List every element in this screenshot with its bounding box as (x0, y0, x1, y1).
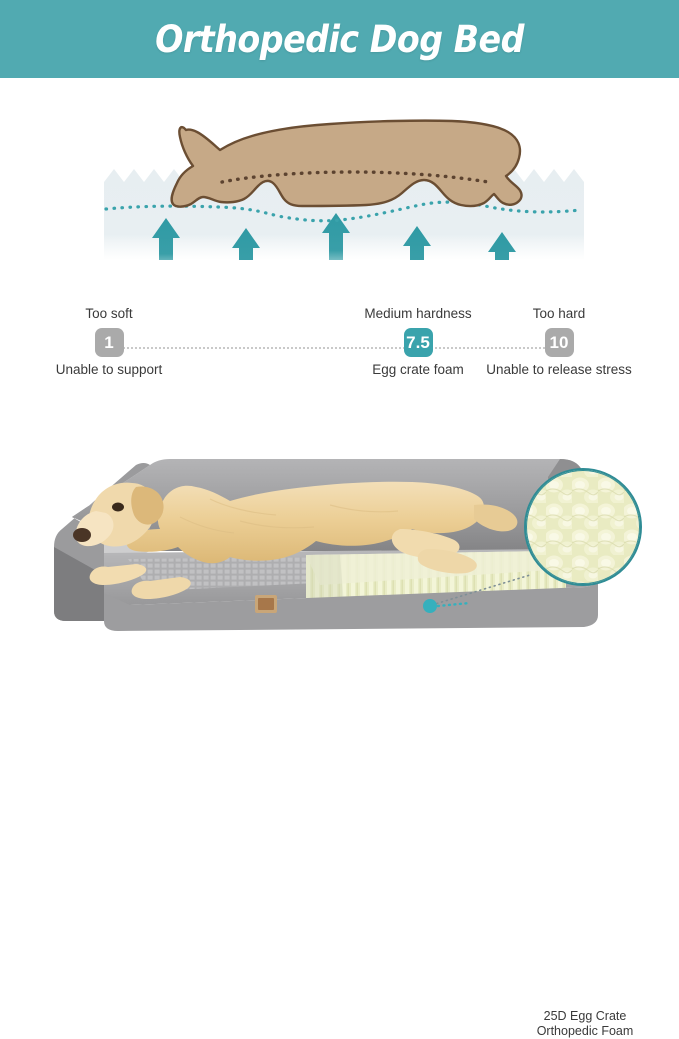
dog-eye (112, 503, 124, 512)
scale-stop-top-label: Too hard (464, 306, 654, 322)
header-banner: Orthopedic Dog Bed (0, 0, 679, 78)
callout-dot (423, 599, 437, 613)
dog-bed-product-photo (0, 425, 679, 631)
foam-callout-caption: 25D Egg Crate Orthopedic Foam (497, 1009, 673, 1039)
dog-on-mattress-diagram (0, 100, 679, 300)
scale-badge-10: 10 (545, 328, 574, 357)
scale-stop-bottom-label: Unable to release stress (464, 362, 654, 378)
foam-caption-line-1: 25D Egg Crate (497, 1009, 673, 1024)
scale-stop-bottom-label: Unable to support (14, 362, 204, 378)
foam-caption-line-2: Orthopedic Foam (497, 1024, 673, 1039)
page-title: Orthopedic Dog Bed (0, 0, 679, 78)
scale-badge-1: 1 (95, 328, 124, 357)
product-photo-section: 25D Egg Crate Orthopedic Foam (0, 425, 679, 631)
scale-stop-too-hard: Too hard 10 Unable to release stress (464, 306, 654, 378)
hardness-scale: Too soft 1 Unable to support Medium hard… (0, 300, 679, 410)
product-infographic: Orthopedic Dog Bed (0, 0, 679, 631)
scale-stop-too-soft: Too soft 1 Unable to support (14, 306, 204, 378)
scale-stop-top-label: Too soft (14, 306, 204, 322)
scale-badge-7-5: 7.5 (404, 328, 433, 357)
dog-silhouette (172, 121, 522, 207)
brand-tag-icon (255, 595, 277, 613)
dog-nose (73, 528, 91, 542)
